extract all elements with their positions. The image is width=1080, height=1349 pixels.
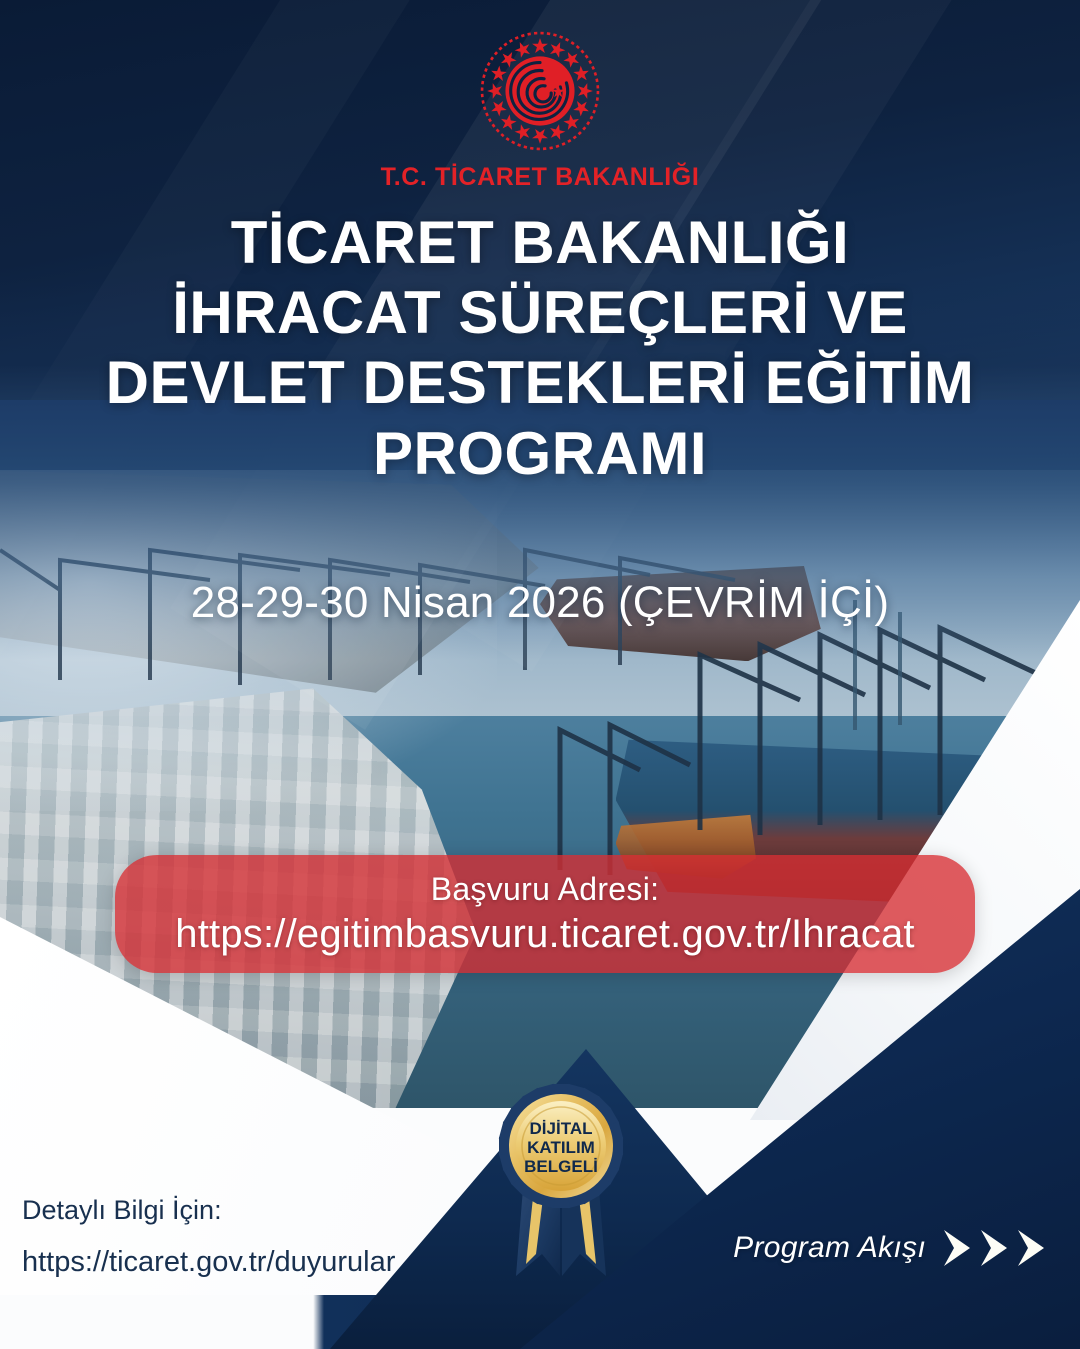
application-url[interactable]: https://egitimbasvuru.ticaret.gov.tr/Ihr… [175, 912, 914, 957]
title-line-4: PROGRAMI [36, 419, 1044, 489]
award-rosette-icon: DİJİTAL KATILIM BELGELİ [476, 1068, 646, 1280]
page-title: TİCARET BAKANLIĞI İHRACAT SÜREÇLERİ VE D… [0, 208, 1080, 489]
seal-line-2: KATILIM [527, 1138, 595, 1157]
brand-block: T.C. TİCARET BAKANLIĞI [0, 30, 1080, 192]
chevron-right-icon [977, 1228, 1009, 1268]
application-banner[interactable]: Başvuru Adresi: https://egitimbasvuru.ti… [115, 855, 975, 973]
poster-root: T.C. TİCARET BAKANLIĞI TİCARET BAKANLIĞI… [0, 0, 1080, 1349]
ministry-name: T.C. TİCARET BAKANLIĞI [0, 163, 1080, 192]
turkish-ministry-emblem-icon [479, 30, 601, 152]
chevron-group [940, 1228, 1046, 1268]
chevron-right-icon [1014, 1228, 1046, 1268]
footer-info-url[interactable]: https://ticaret.gov.tr/duyurular [22, 1240, 395, 1285]
chevron-right-icon [940, 1228, 972, 1268]
seal-line-3: BELGELİ [524, 1157, 598, 1176]
title-line-2: İHRACAT SÜREÇLERİ VE [36, 278, 1044, 348]
program-flow-label: Program Akışı [733, 1231, 926, 1265]
program-flow-block[interactable]: Program Akışı [733, 1228, 1046, 1268]
seal-line-1: DİJİTAL [530, 1119, 593, 1138]
event-date: 28-29-30 Nisan 2026 (ÇEVRİM İÇİ) [0, 578, 1080, 628]
title-line-1: TİCARET BAKANLIĞI [36, 208, 1044, 278]
application-label: Başvuru Adresi: [431, 871, 660, 908]
footer-info-block: Detaylı Bilgi İçin: https://ticaret.gov.… [22, 1190, 395, 1285]
title-line-3: DEVLET DESTEKLERİ EĞİTİM [36, 348, 1044, 418]
footer-info-label: Detaylı Bilgi İçin: [22, 1190, 395, 1232]
